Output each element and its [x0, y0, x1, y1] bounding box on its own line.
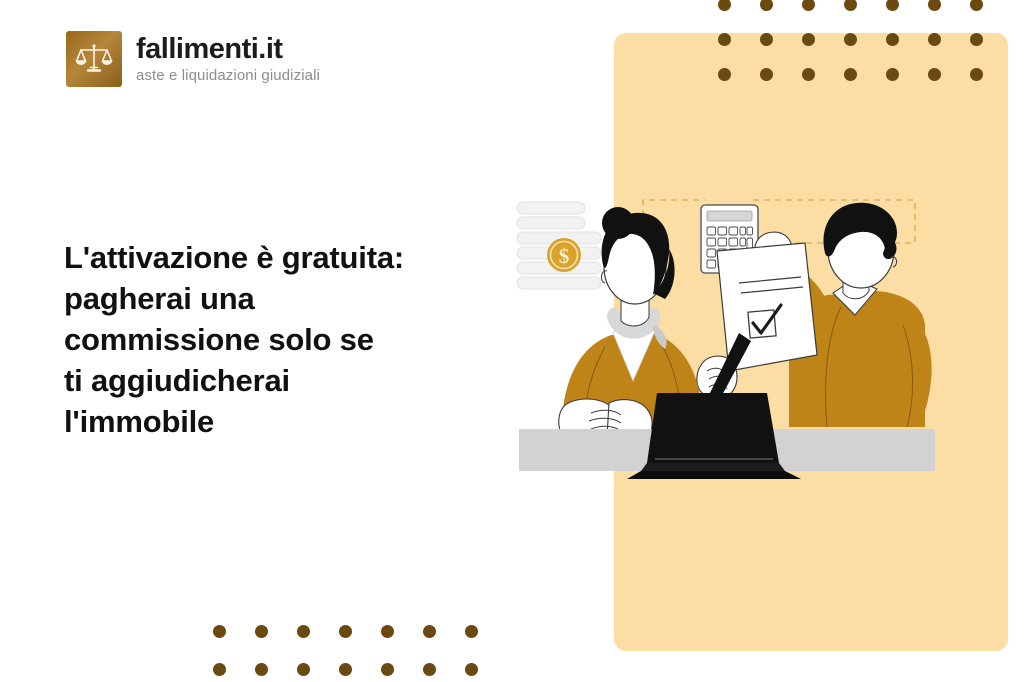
decorative-dot — [844, 0, 857, 11]
decorative-dot — [213, 625, 226, 638]
decorative-dot — [423, 625, 436, 638]
decorative-dot — [297, 663, 310, 676]
decorative-dot — [970, 0, 983, 11]
brand-name: fallimenti.it — [136, 35, 320, 64]
illustration-two-people-reviewing-contract: $ — [505, 175, 945, 485]
banner-canvas: fallimenti.it aste e liquidazioni giudiz… — [0, 0, 1024, 682]
decorative-dot — [255, 625, 268, 638]
dollar-coin: $ — [547, 238, 581, 272]
decorative-dot — [928, 0, 941, 11]
decorative-dot — [381, 663, 394, 676]
decorative-dot — [213, 663, 226, 676]
decorative-dot — [886, 0, 899, 11]
decorative-dot — [297, 625, 310, 638]
brand-logo[interactable]: fallimenti.it aste e liquidazioni giudiz… — [66, 31, 320, 87]
decorative-dot — [381, 625, 394, 638]
decorative-dot — [718, 0, 731, 11]
decorative-dot — [760, 0, 773, 11]
decorative-dot — [339, 625, 352, 638]
brand-tagline: aste e liquidazioni giudiziali — [136, 68, 320, 83]
dot-grid-bottom-left — [213, 625, 507, 682]
hair-bun — [602, 207, 634, 239]
decorative-dot — [465, 625, 478, 638]
svg-text:$: $ — [559, 244, 570, 268]
decorative-dot — [423, 663, 436, 676]
decorative-dot — [339, 663, 352, 676]
brand-logo-text: fallimenti.it aste e liquidazioni giudiz… — [136, 35, 320, 83]
scales-of-justice-icon — [66, 31, 122, 87]
decorative-dot — [465, 663, 478, 676]
decorative-dot — [255, 663, 268, 676]
page-title: L'attivazione è gratuita: pagherai una c… — [64, 238, 484, 443]
decorative-dot — [802, 0, 815, 11]
